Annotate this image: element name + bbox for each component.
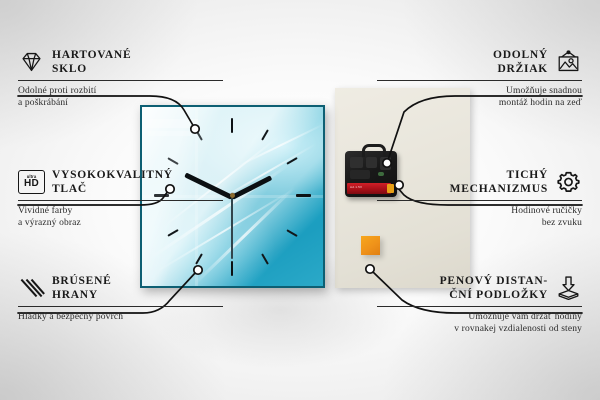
- feature-title: BRÚSENÉ HRANY: [52, 274, 112, 302]
- feature-description: Umožňuje vám držať hodiny v rovnakej vzd…: [377, 311, 582, 335]
- infographic-canvas: AA 1.5V: [0, 0, 600, 400]
- feature-title: PENOVÝ DISTAN- ČNÍ PODLOŽKY: [440, 274, 548, 302]
- feature-durable-holder: ODOLNÝ DRŽIAK Umožňuje snadnou montáž ho…: [377, 48, 582, 109]
- divider: [377, 200, 582, 201]
- divider: [18, 306, 223, 307]
- feature-description: Umožňuje snadnou montáž hodin na zeď: [377, 85, 582, 109]
- feature-description: Hodinové ručičky bez zvuku: [377, 205, 582, 229]
- feature-silent-mechanism: TICHÝ MECHANIZMUS Hodinové ručičky bez z…: [377, 168, 582, 229]
- feature-tempered-glass: HARTOVANÉ SKLO Odolné proti rozbití a po…: [18, 48, 223, 109]
- feature-ground-edges: BRÚSENÉ HRANY Hladký a bezpečný povrch: [18, 274, 223, 323]
- feature-description: Hladký a bezpečný povrch: [18, 311, 223, 323]
- feature-title: VYSOKOKVALITNÝ TLAČ: [52, 168, 173, 196]
- mechanism-knob-a: [350, 157, 363, 168]
- divider: [18, 80, 223, 81]
- divider: [377, 306, 582, 307]
- picture-hanger-icon: [555, 50, 582, 74]
- ultra-hd-icon-main-text: HD: [24, 179, 39, 189]
- press-layers-icon: [555, 276, 582, 300]
- ultra-hd-icon: ultra HD: [18, 170, 45, 194]
- diamond-icon: [18, 50, 45, 74]
- divider: [18, 200, 223, 201]
- diagonal-lines-icon: [18, 276, 45, 300]
- feature-high-quality-print: ultra HD VYSOKOKVALITNÝ TLAČ Vividné far…: [18, 168, 223, 229]
- foam-spacer-pad: [361, 236, 380, 255]
- feature-foam-spacers: PENOVÝ DISTAN- ČNÍ PODLOŽKY Umožňuje vám…: [377, 274, 582, 335]
- gear-icon: [555, 170, 582, 194]
- feature-description: Odolné proti rozbití a poškrábání: [18, 85, 223, 109]
- feature-title: HARTOVANÉ SKLO: [52, 48, 131, 76]
- feature-description: Vividné farby a výrazný obraz: [18, 205, 223, 229]
- mechanism-hook: [362, 144, 386, 157]
- mechanism-knob-b: [366, 157, 377, 168]
- clock-center-cap: [230, 193, 235, 198]
- feature-title: TICHÝ MECHANIZMUS: [450, 168, 548, 196]
- divider: [377, 80, 582, 81]
- feature-title: ODOLNÝ DRŽIAK: [493, 48, 548, 76]
- mechanism-knob-d: [350, 170, 370, 179]
- battery-label: AA 1.5V: [350, 185, 362, 189]
